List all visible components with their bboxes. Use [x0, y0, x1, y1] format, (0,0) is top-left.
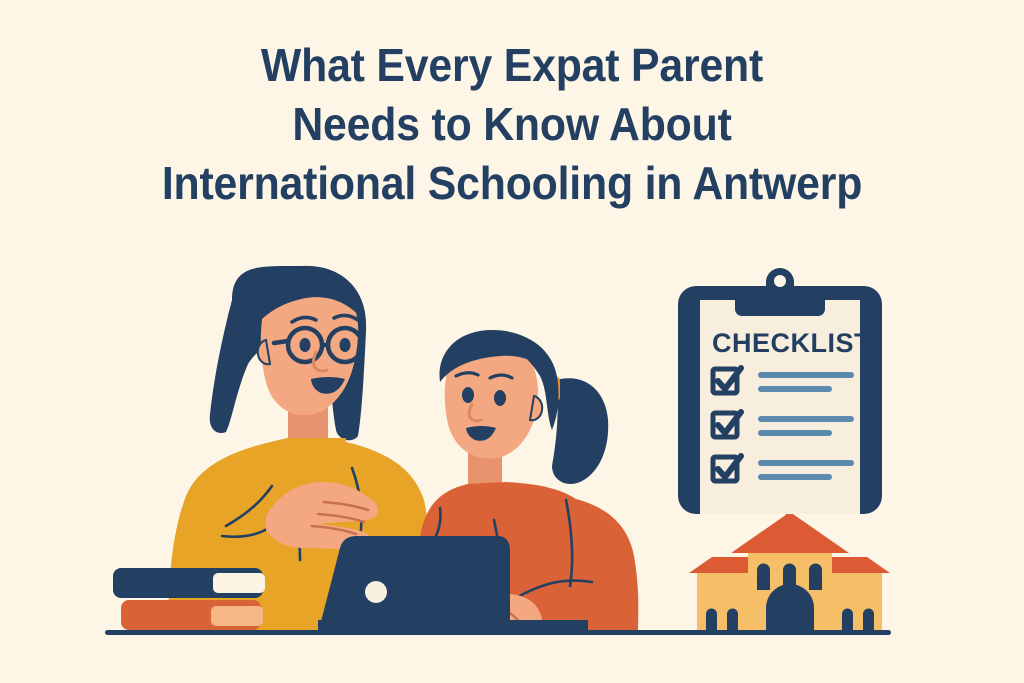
book-top-pages — [213, 573, 265, 593]
school-window-upper-3 — [809, 564, 822, 590]
school-window-right-2 — [863, 609, 874, 634]
checklist-clipboard: CHECKLIST — [678, 268, 882, 514]
school-window-right-1 — [842, 609, 853, 634]
clipboard-clip-hole — [774, 275, 786, 287]
school-building — [689, 500, 890, 633]
checklist-line-3b — [758, 474, 832, 480]
parent-eye-right — [340, 338, 351, 352]
child-eye-left — [462, 387, 474, 403]
poster-canvas: What Every Expat Parent Needs to Know Ab… — [0, 0, 1024, 683]
checklist-heading: CHECKLIST — [712, 328, 871, 358]
school-main-roof — [731, 512, 849, 553]
child-eye-right — [494, 390, 506, 406]
checklist-line-1b — [758, 386, 832, 392]
school-window-left-1 — [706, 609, 717, 634]
laptop-logo-icon — [365, 581, 387, 603]
school-entrance-door — [766, 584, 814, 633]
school-window-upper-1 — [757, 564, 770, 590]
parent-eye-left — [300, 338, 311, 352]
school-window-left-2 — [727, 609, 738, 634]
checklist-line-2a — [758, 416, 854, 422]
book-bottom-pages — [211, 606, 263, 626]
laptop-lid[interactable] — [318, 536, 510, 633]
desk-surface-line — [105, 630, 891, 635]
checklist-line-3a — [758, 460, 854, 466]
child-ponytail — [552, 378, 608, 484]
checklist-line-2b — [758, 430, 832, 436]
checklist-line-1a — [758, 372, 854, 378]
glasses-temple — [274, 341, 288, 343]
school-left-wing — [697, 573, 755, 633]
illustration: CHECKLIST — [0, 0, 1024, 683]
